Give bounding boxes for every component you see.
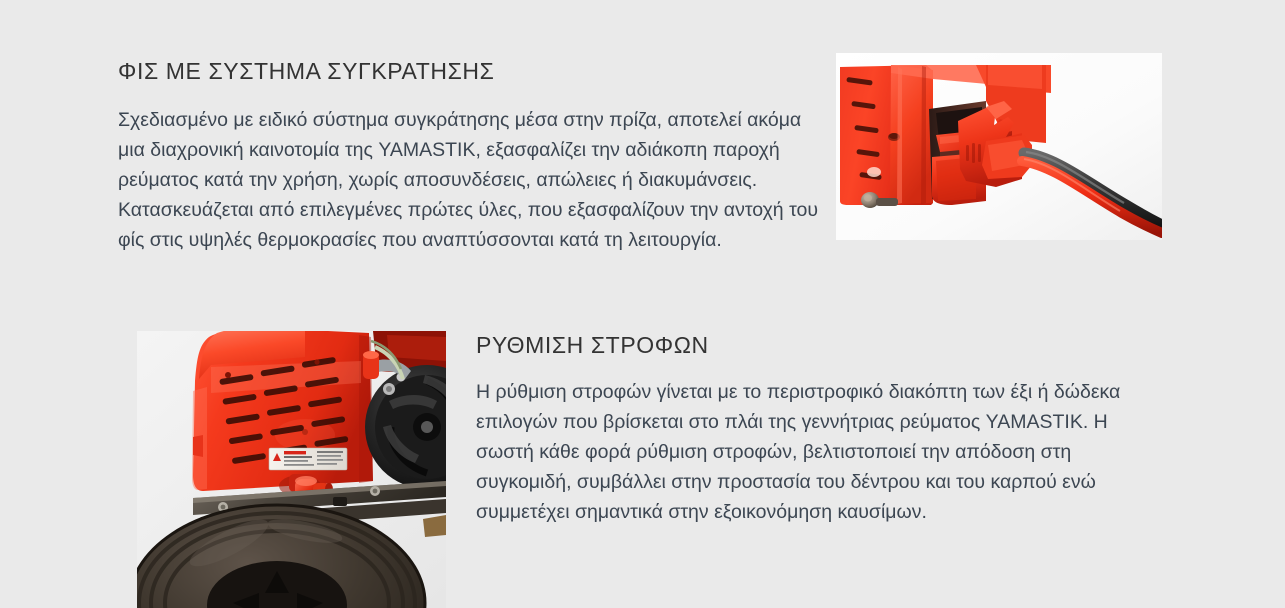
feature-block-plug: ΦΙΣ ΜΕ ΣΥΣΤΗΜΑ ΣΥΓΚΡΑΤΗΣΗΣ Σχεδιασμένο μ…	[118, 58, 818, 255]
product-features-page: ΦΙΣ ΜΕ ΣΥΣΤΗΜΑ ΣΥΓΚΡΑΤΗΣΗΣ Σχεδιασμένο μ…	[0, 0, 1285, 608]
generator-rotary-switch-image	[137, 331, 446, 608]
feature-body-speed-adjust: Η ρύθμιση στροφών γίνεται με το περιστρο…	[476, 377, 1156, 527]
feature-title-speed-adjust: ΡΥΘΜΙΣΗ ΣΤΡΟΦΩΝ	[476, 332, 1156, 360]
plug-photo-illustration	[836, 53, 1162, 240]
generator-photo-illustration	[137, 331, 446, 608]
feature-title-plug: ΦΙΣ ΜΕ ΣΥΣΤΗΜΑ ΣΥΓΚΡΑΤΗΣΗΣ	[118, 58, 818, 86]
plug-retention-system-image	[836, 53, 1162, 240]
feature-block-speed-adjust: ΡΥΘΜΙΣΗ ΣΤΡΟΦΩΝ Η ρύθμιση στροφών γίνετα…	[476, 332, 1156, 527]
machine-warning-label	[269, 448, 347, 470]
feature-body-plug: Σχεδιασμένο με ειδικό σύστημα συγκράτηση…	[118, 105, 818, 255]
